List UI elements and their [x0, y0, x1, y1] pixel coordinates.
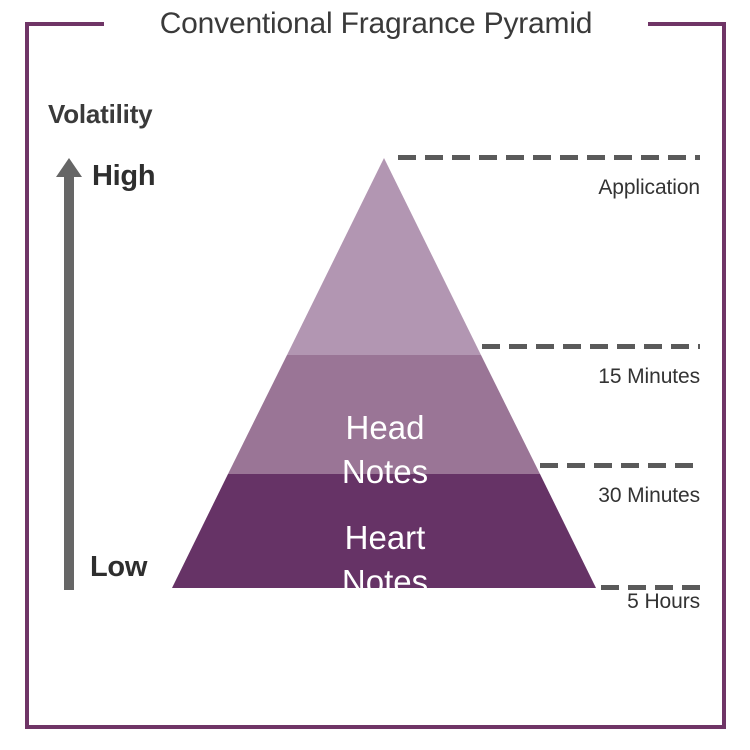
- marker-line-application: [398, 155, 700, 160]
- frame-border-bottom: [25, 725, 726, 729]
- frame-border-top-right: [648, 22, 726, 26]
- frame-border-top-left: [25, 22, 104, 26]
- marker-line-30-minutes: [540, 463, 700, 468]
- pyramid-tier-label-base-line1: Base: [160, 623, 610, 679]
- marker-label-15-minutes: 15 Minutes: [440, 365, 700, 389]
- axis-tick-high: High: [92, 160, 155, 193]
- marker-label-application: Application: [440, 176, 700, 200]
- marker-line-15-minutes: [482, 344, 700, 349]
- axis-tick-low: Low: [90, 551, 147, 584]
- axis-title-volatility: Volatility: [48, 99, 152, 130]
- marker-label-5-hours: 5 Hours: [440, 590, 700, 614]
- arrow-up-icon: [56, 158, 82, 590]
- page-title: Conventional Fragrance Pyramid: [104, 6, 648, 42]
- marker-label-30-minutes: 30 Minutes: [440, 484, 700, 508]
- fragrance-pyramid-diagram: Conventional Fragrance Pyramid Volatilit…: [0, 0, 750, 750]
- pyramid-tier-label-base: Base Notes: [160, 623, 610, 735]
- frame-border-left: [25, 22, 29, 729]
- frame-border-right: [722, 22, 726, 729]
